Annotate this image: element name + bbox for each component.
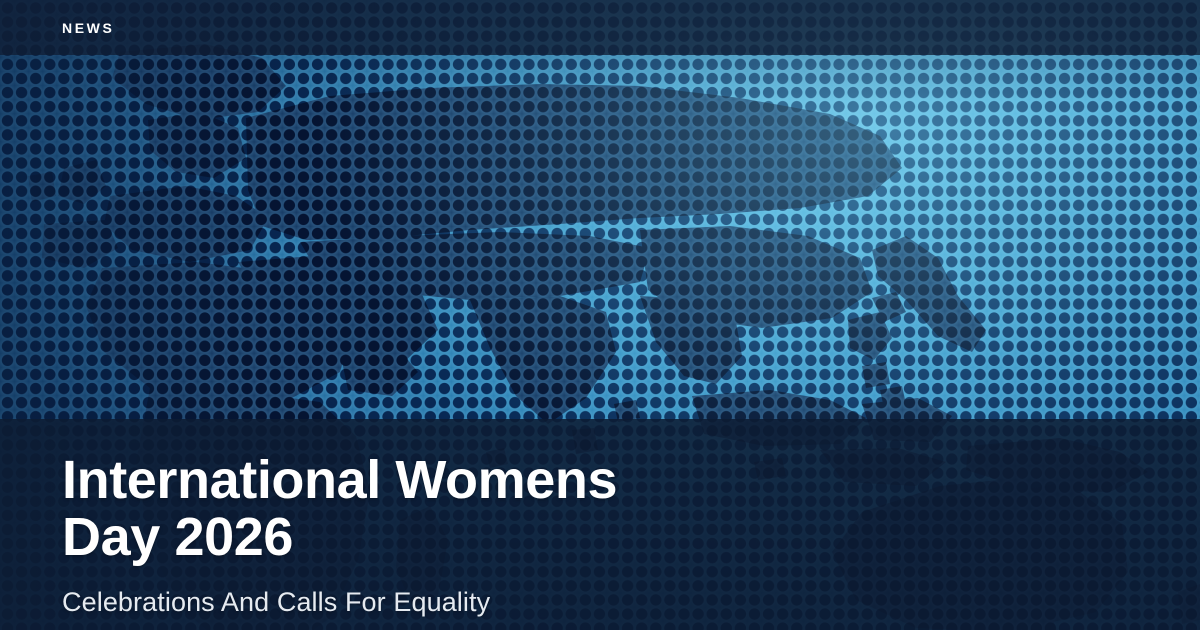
headline-line-1: International Womens <box>62 450 617 510</box>
caption-block: International Womens Day 2026 Celebratio… <box>62 419 822 630</box>
news-kicker-label: NEWS <box>62 21 114 35</box>
news-share-card: NEWS International Womens Day 2026 Celeb… <box>0 0 1200 630</box>
headline-line-2: Day 2026 <box>62 507 293 567</box>
top-news-bar: NEWS <box>0 0 1200 55</box>
page-title: International Womens Day 2026 <box>62 419 822 566</box>
page-subtitle: Celebrations And Calls For Equality <box>62 566 822 618</box>
